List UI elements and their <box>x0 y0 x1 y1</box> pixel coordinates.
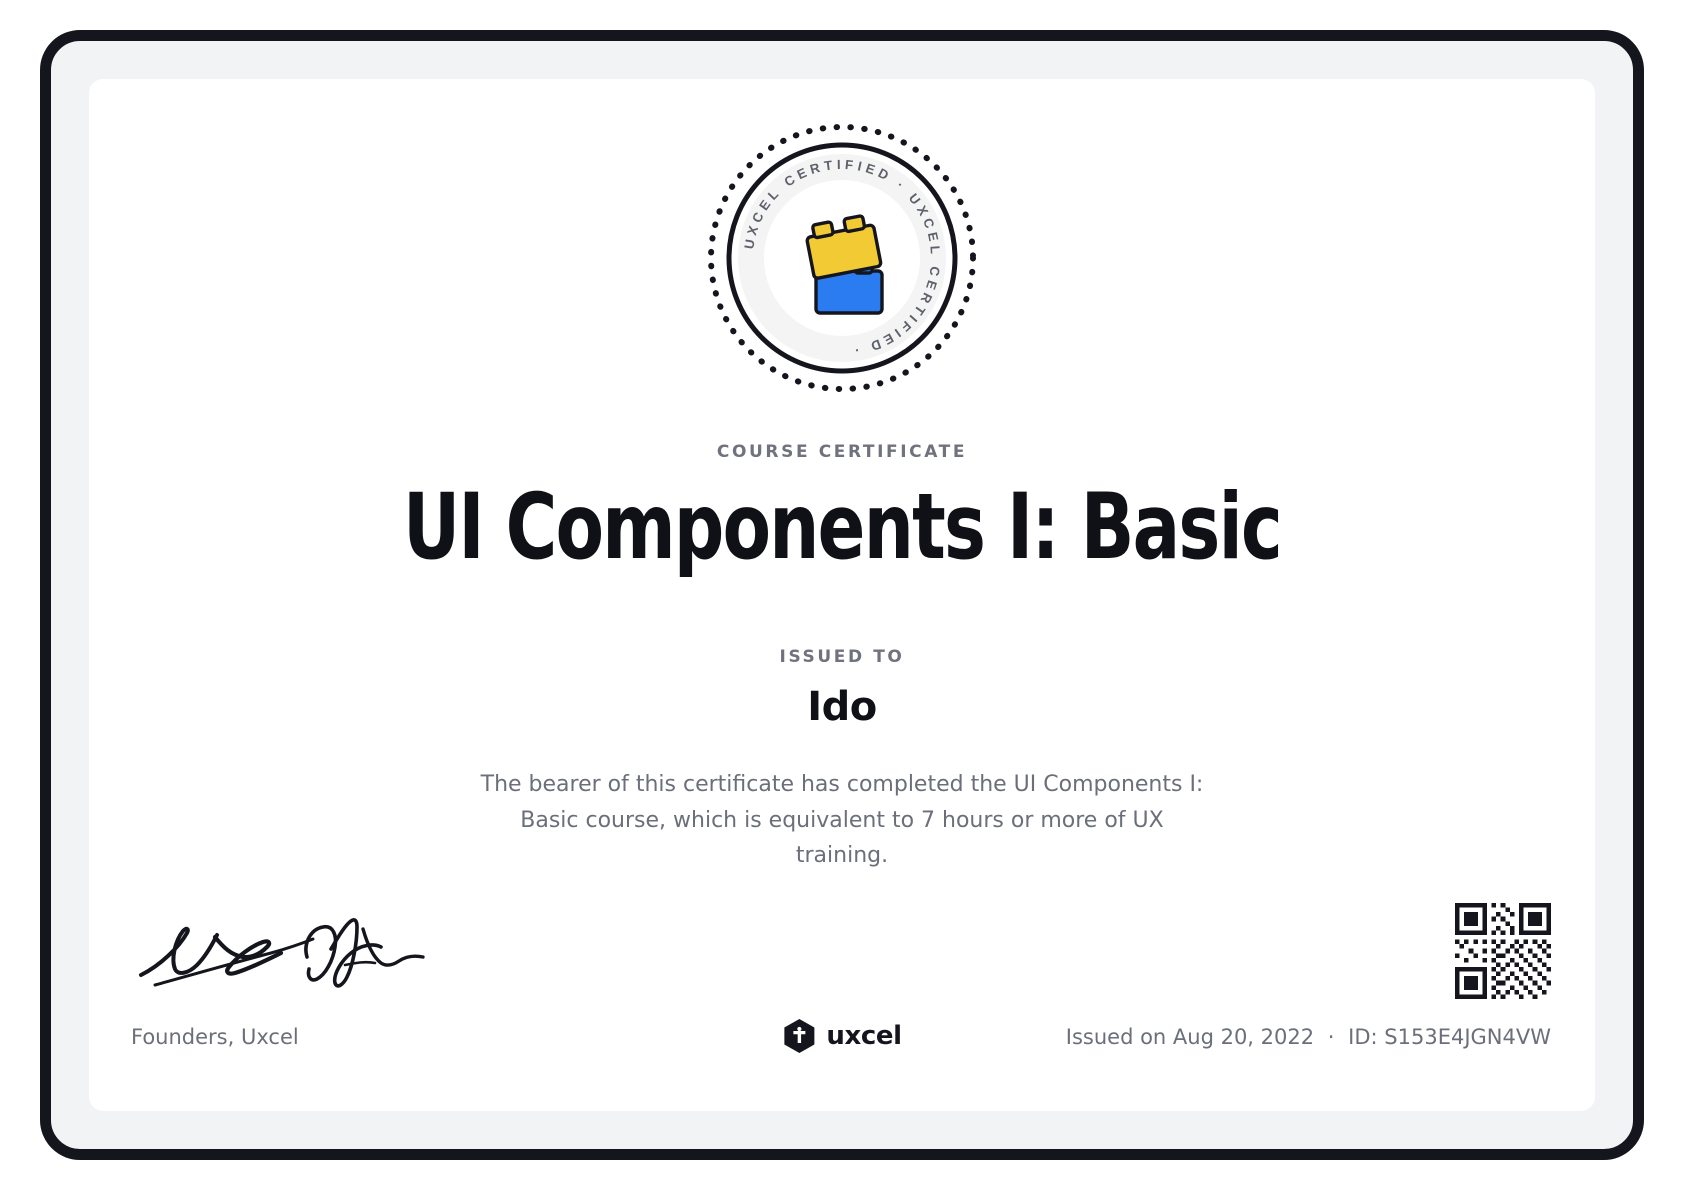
meta-separator: · <box>1321 1025 1342 1049</box>
issued-on-label: Issued on Aug 20, 2022 <box>1066 1025 1314 1049</box>
signature-image <box>131 913 431 993</box>
qr-code-svg <box>1455 903 1551 999</box>
page-title: UI Components I: Basic <box>194 479 1489 577</box>
verification-qr-code[interactable] <box>1455 903 1551 999</box>
course-certificate-kicker: COURSE CERTIFICATE <box>89 442 1595 462</box>
issue-metadata: Issued on Aug 20, 2022 · ID: S153E4JGN4V… <box>1066 1025 1551 1049</box>
signatures <box>131 913 431 993</box>
signature-caption: Founders, Uxcel <box>131 1025 299 1049</box>
uxcel-cube-icon <box>782 1018 816 1054</box>
certificate-description: The bearer of this certificate has compl… <box>472 767 1212 874</box>
issued-to-label: ISSUED TO <box>89 647 1595 667</box>
brand-name: uxcel <box>826 1021 901 1051</box>
certificate-frame: UXCEL CERTIFIED · UXCEL CERTIFIED · <box>40 30 1644 1160</box>
certificate-card: UXCEL CERTIFIED · UXCEL CERTIFIED · <box>89 79 1595 1111</box>
recipient-name: Ido <box>89 684 1595 730</box>
uxcel-brand-logo: uxcel <box>782 1018 901 1054</box>
certificate-id: ID: S153E4JGN4VW <box>1348 1025 1551 1049</box>
uxcel-certified-badge: UXCEL CERTIFIED · UXCEL CERTIFIED · <box>703 119 981 397</box>
badge-svg: UXCEL CERTIFIED · UXCEL CERTIFIED · <box>703 119 981 397</box>
